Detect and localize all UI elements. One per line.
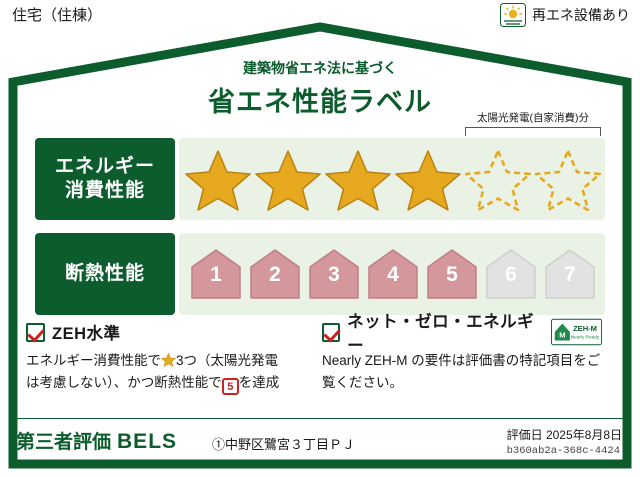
insulation-grade-2: 2 bbox=[248, 247, 302, 301]
zeh-desc-part2: 3つ（太陽光発電 bbox=[176, 353, 278, 368]
seinou-label-card: 住宅（住棟） 再エネ設備あり bbox=[0, 0, 640, 477]
svg-text:ZEH-M: ZEH-M bbox=[573, 324, 597, 333]
solar-bracket-line bbox=[465, 127, 601, 136]
insulation-row-label-text: 断熱性能 bbox=[65, 262, 145, 286]
insulation-grade-4: 4 bbox=[366, 247, 420, 301]
zeh-desc-grade-badge: 5 bbox=[222, 378, 239, 395]
insulation-grade-6-value: 6 bbox=[484, 263, 538, 287]
nze-description: Nearly ZEH-M の要件は評価書の特記項目をご覧ください。 bbox=[322, 350, 602, 393]
insulation-grade-scale: 1 2 3 4 5 bbox=[179, 233, 605, 315]
zeh-standard-block: ZEH水準 エネルギー消費性能で3つ（太陽光発電 は考慮しない）、かつ断熱性能で… bbox=[26, 320, 306, 395]
insulation-grade-5-value: 5 bbox=[425, 263, 479, 287]
star-icon-filled-3 bbox=[325, 147, 391, 211]
bels-jp-label: 第三者評価 bbox=[16, 427, 111, 454]
svg-text:Nearly Ready: Nearly Ready bbox=[571, 335, 600, 341]
evaluation-date-value: 2025年8月8日 bbox=[546, 428, 622, 442]
insulation-grade-1-value: 1 bbox=[189, 263, 243, 287]
checkbox-checked-icon bbox=[26, 323, 45, 342]
energy-row-label: エネルギー 消費性能 bbox=[35, 138, 175, 220]
bels-en-label: BELS bbox=[117, 430, 177, 454]
solar-bracket-label: 太陽光発電(自家消費)分 bbox=[461, 110, 605, 125]
solar-bracket: 太陽光発電(自家消費)分 bbox=[461, 110, 605, 140]
insulation-grade-3-value: 3 bbox=[307, 263, 361, 287]
insulation-grade-4-value: 4 bbox=[366, 263, 420, 287]
energy-row-label-line2: 消費性能 bbox=[65, 179, 145, 203]
nze-check-row: ネット・ゼロ・エネルギー M ZEH-M Nearly Ready bbox=[322, 320, 602, 344]
svg-text:M: M bbox=[559, 331, 565, 340]
insulation-grade-5: 5 bbox=[425, 247, 479, 301]
insulation-grade-2-value: 2 bbox=[248, 263, 302, 287]
star-icon-dashed-6 bbox=[535, 147, 601, 211]
zeh-desc-part3: は考慮しない）、かつ断熱性能で bbox=[26, 375, 222, 390]
zeh-desc-part4: を達成 bbox=[239, 375, 280, 390]
star-icon-filled-4 bbox=[395, 147, 461, 211]
label-subtitle: 建築物省エネ法に基づく bbox=[0, 58, 640, 78]
zeh-check-row: ZEH水準 bbox=[26, 320, 306, 344]
star-icon-filled-2 bbox=[255, 147, 321, 211]
bels-block: 第三者評価 BELS bbox=[16, 427, 177, 454]
zeh-desc-part1: エネルギー消費性能で bbox=[26, 353, 161, 368]
insulation-grade-1: 1 bbox=[189, 247, 243, 301]
nze-check-label: ネット・ゼロ・エネルギー bbox=[347, 308, 540, 356]
insulation-grade-7-value: 7 bbox=[543, 263, 597, 287]
zeh-check-label: ZEH水準 bbox=[52, 320, 121, 344]
evaluation-info: 評価日 2025年8月8日 b360ab2a-368c-4424 bbox=[507, 427, 622, 460]
energy-row-body: 太陽光発電(自家消費)分 bbox=[179, 138, 605, 220]
evaluation-code: b360ab2a-368c-4424 bbox=[507, 444, 622, 459]
evaluation-date-label: 評価日 bbox=[507, 428, 543, 442]
insulation-performance-row: 断熱性能 1 2 3 4 bbox=[35, 233, 605, 315]
insulation-row-label: 断熱性能 bbox=[35, 233, 175, 315]
zeh-description: エネルギー消費性能で3つ（太陽光発電 は考慮しない）、かつ断熱性能で5を達成 bbox=[26, 350, 306, 395]
insulation-row-body: 1 2 3 4 5 bbox=[179, 233, 605, 315]
energy-star-rating bbox=[179, 138, 605, 220]
property-address: ①中野区鷺宮３丁目ＰＪ bbox=[212, 434, 355, 453]
evaluation-date-row: 評価日 2025年8月8日 bbox=[507, 427, 622, 444]
zeh-m-logo-icon: M ZEH-M Nearly Ready bbox=[551, 318, 602, 346]
energy-row-label-line1: エネルギー bbox=[55, 155, 155, 179]
insulation-grade-3: 3 bbox=[307, 247, 361, 301]
footer-divider bbox=[14, 418, 626, 419]
checkbox-checked-icon bbox=[322, 323, 340, 342]
insulation-grade-6: 6 bbox=[484, 247, 538, 301]
star-icon-dashed-5 bbox=[465, 147, 531, 211]
net-zero-energy-block: ネット・ゼロ・エネルギー M ZEH-M Nearly Ready Nearly… bbox=[322, 320, 602, 393]
insulation-grade-7: 7 bbox=[543, 247, 597, 301]
star-icon-filled-1 bbox=[185, 147, 251, 211]
energy-performance-row: エネルギー 消費性能 太陽光発電(自家消費)分 bbox=[35, 138, 605, 220]
inline-star-icon bbox=[161, 352, 176, 367]
